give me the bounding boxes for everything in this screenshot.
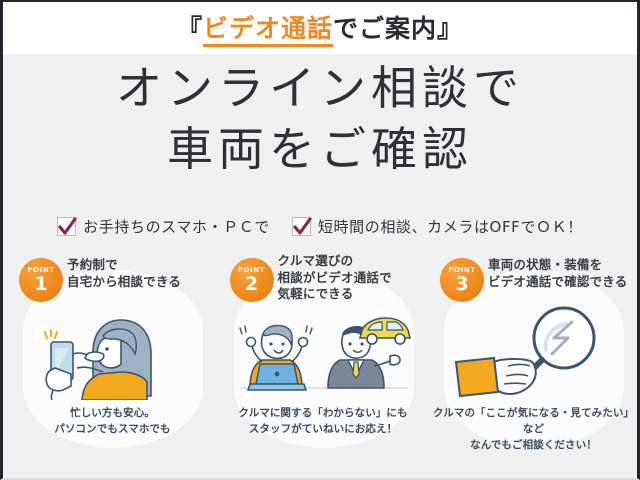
check-icon: [292, 217, 311, 236]
point-caption-3: クルマの「ここが気になる・見てみたい」など なんでもご相談ください！: [432, 406, 635, 453]
point-caption-2: クルマに関する「わからない」にも スタッフがていねいにお応え！: [222, 406, 425, 438]
point-title-line: 車両の状態・装備を: [488, 257, 638, 274]
point-badge-3: POINT 3: [440, 258, 484, 302]
badge-number: 3: [455, 275, 468, 294]
header-tail: でご案内: [333, 14, 437, 43]
point-badge-1: POINT 1: [19, 258, 63, 302]
point-title-line: ビデオ通話で確認できる: [488, 274, 638, 291]
check-label: 短時間の相談、カメラはOFFでＯＫ！: [318, 216, 583, 237]
badge-number: 1: [34, 275, 47, 294]
banner-header: 『ビデオ通話でご案内』: [3, 2, 637, 54]
hand-holding-magnifier-illustration: [446, 304, 622, 400]
header-highlight: ビデオ通話: [203, 14, 333, 47]
point-caption-1: 忙しい方も安心。 パソコンでもスマホでも: [11, 406, 214, 438]
point-caption-line: クルマの「ここが気になる・見てみたい」など: [432, 406, 635, 438]
point-title-line: クルマ選びの: [278, 253, 428, 270]
badge-number: 2: [245, 275, 258, 294]
point-caption-line: なんでもご相談ください！: [432, 438, 635, 454]
point-caption-line: 忙しい方も安心。: [11, 406, 214, 422]
point-title-2: クルマ選びの 相談がビデオ通話で 気軽にできる: [278, 253, 428, 303]
check-icon: [57, 217, 76, 236]
point-title-line: 相談がビデオ通話で: [278, 270, 428, 287]
point-card-3: POINT 3 車両の状態・装備を ビデオ通話で確認できる: [432, 254, 635, 454]
title-line-1: オンライン相談で: [3, 58, 637, 119]
feature-check-row: お手持ちのスマホ・ＰＣで 短時間の相談、カメラはOFFでＯＫ！: [3, 216, 637, 237]
point-caption-line: クルマに関する「わからない」にも: [222, 406, 425, 422]
header-bracket-close: 』: [437, 14, 463, 43]
point-card-2: POINT 2 クルマ選びの 相談がビデオ通話で 気軽にできる: [222, 254, 425, 454]
point-card-1: POINT 1 予約制で 自宅から相談できる: [11, 254, 214, 454]
title-line-2: 車両をご確認: [3, 119, 637, 180]
check-item-smartphone-pc: お手持ちのスマホ・ＰＣで: [57, 216, 270, 237]
point-title-line: 予約制で: [67, 257, 217, 274]
woman-with-smartphone-illustration: [25, 304, 201, 400]
check-item-camera-off: 短時間の相談、カメラはOFFでＯＫ！: [292, 216, 583, 237]
header-title: 『ビデオ通話でご案内』: [177, 16, 463, 41]
point-title-1: 予約制で 自宅から相談できる: [67, 257, 217, 290]
point-caption-line: スタッフがていねいにお応え！: [222, 422, 425, 438]
header-bracket-open: 『: [177, 14, 203, 43]
laptop-video-call-with-staff-illustration: [236, 304, 412, 400]
point-title-line: 気軽にできる: [278, 286, 428, 303]
point-badge-2: POINT 2: [230, 258, 274, 302]
promotional-banner: 『ビデオ通話でご案内』 オンライン相談で 車両をご確認 お手持ちのスマホ・ＰＣで…: [0, 0, 640, 480]
point-caption-line: パソコンでもスマホでも: [11, 422, 214, 438]
point-title-3: 車両の状態・装備を ビデオ通話で確認できる: [488, 257, 638, 290]
points-section: POINT 1 予約制で 自宅から相談できる: [11, 254, 635, 454]
point-title-line: 自宅から相談できる: [67, 274, 217, 291]
main-title: オンライン相談で 車両をご確認: [3, 58, 637, 179]
check-label: お手持ちのスマホ・ＰＣで: [83, 216, 270, 237]
